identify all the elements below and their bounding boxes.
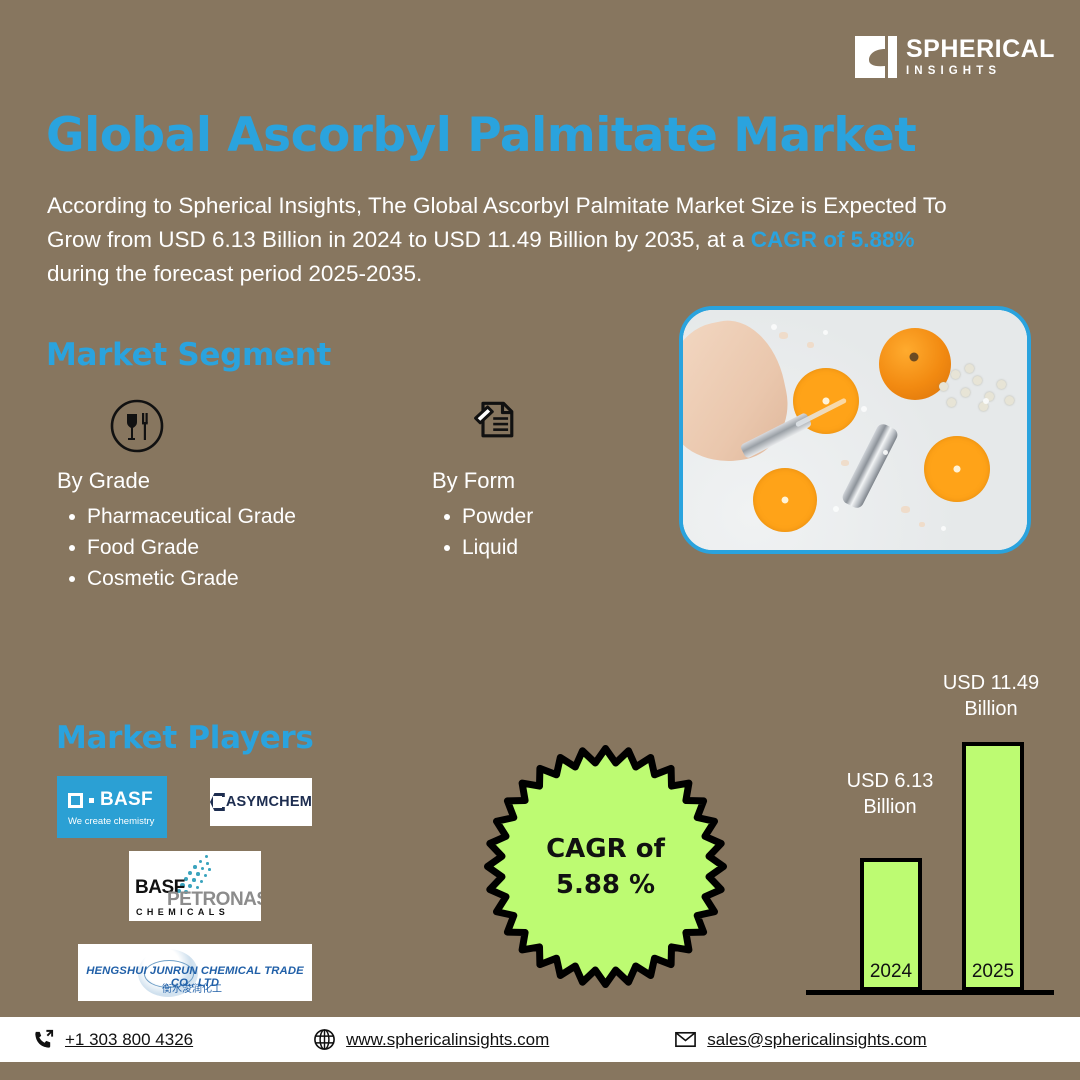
bar-2025: 2025	[962, 742, 1024, 991]
product-photo-frame	[679, 306, 1031, 554]
segment-item: Liquid	[432, 532, 533, 563]
market-segment-heading: Market Segment	[46, 337, 331, 373]
sugar-fleck	[771, 324, 777, 330]
segment-list-by-form: Powder Liquid	[432, 501, 533, 563]
page-title: Global Ascorbyl Palmitate Market	[46, 108, 916, 163]
cagr-text: CAGR of 5.88 %	[483, 744, 728, 989]
basf-tagline: We create chemistry	[68, 816, 167, 827]
bar-value-label-2025: USD 11.49 Billion	[931, 670, 1051, 722]
brand-logo: SPHERICAL INSIGHTS	[855, 36, 1055, 78]
phone-outgoing-icon	[32, 1028, 55, 1051]
document-form-icon	[470, 394, 533, 450]
envelope-icon	[674, 1028, 697, 1051]
basf-dot-icon	[89, 798, 94, 803]
infographic-page: SPHERICAL INSIGHTS Global Ascorbyl Palmi…	[0, 0, 1080, 1080]
player-logo-basf-petronas: BASF PETRONAS CHEMICALS	[129, 851, 261, 921]
bar-value-label-2024: USD 6.13 Billion	[830, 768, 950, 820]
logo-wordmark-bottom: INSIGHTS	[906, 66, 1055, 78]
orange-slices-with-serum-dropper-photo	[683, 310, 1027, 550]
segment-group-by-form: By Form Powder Liquid	[432, 394, 533, 563]
globe-icon	[313, 1028, 336, 1051]
segment-item: Cosmetic Grade	[57, 563, 296, 594]
segment-item: Powder	[432, 501, 533, 532]
market-players-heading: Market Players	[56, 720, 314, 756]
salt-crumb	[919, 522, 925, 527]
salt-crumb	[779, 332, 788, 339]
chart-baseline-axis	[806, 990, 1054, 995]
segment-group-by-grade: By Grade Pharmaceutical Grade Food Grade…	[57, 398, 296, 594]
food-grade-icon	[109, 398, 296, 454]
orange-slice	[753, 468, 817, 532]
footer-bar: +1 303 800 4326 www.sphericalinsights.co…	[0, 1017, 1080, 1062]
bar-category-2024: 2024	[870, 961, 912, 983]
bar-2024: 2024	[860, 858, 922, 991]
segment-item: Pharmaceutical Grade	[57, 501, 296, 532]
sugar-fleck	[833, 506, 839, 512]
serum-tube	[840, 422, 900, 510]
bar-value-line1: USD 6.13	[830, 768, 950, 794]
player-logo-asymchem: ASYMCHEM	[210, 778, 312, 826]
asymchem-wordmark: ASYMCHEM	[226, 794, 312, 810]
basf-petronas-line3: CHEMICALS	[136, 907, 229, 917]
footer-phone[interactable]: +1 303 800 4326	[32, 1028, 193, 1051]
footer-phone-text[interactable]: +1 303 800 4326	[65, 1030, 193, 1050]
segment-list-by-grade: Pharmaceutical Grade Food Grade Cosmetic…	[57, 501, 296, 594]
cagr-badge: CAGR of 5.88 %	[483, 744, 728, 989]
footer-email[interactable]: sales@sphericalinsights.com	[674, 1028, 926, 1051]
market-description: According to Spherical Insights, The Glo…	[47, 189, 957, 291]
spherical-insights-mark-icon	[855, 36, 897, 78]
footer-email-text[interactable]: sales@sphericalinsights.com	[707, 1030, 926, 1050]
dried-flowers	[935, 362, 1021, 416]
cagr-line-2: 5.88 %	[556, 867, 655, 903]
salt-crumb	[841, 460, 849, 466]
segment-item: Food Grade	[57, 532, 296, 563]
bar-value-line2: Billion	[931, 696, 1051, 722]
footer-website[interactable]: www.sphericalinsights.com	[313, 1028, 549, 1051]
sugar-fleck	[983, 398, 989, 404]
description-text-part2: during the forecast period 2025-2035.	[47, 261, 422, 286]
basf-wordmark: BASF	[100, 789, 153, 811]
orange-slice	[924, 436, 990, 502]
cagr-line-1: CAGR of	[546, 831, 665, 867]
salt-crumb	[901, 506, 910, 513]
segment-title-by-grade: By Grade	[57, 468, 296, 494]
market-size-bar-chart: USD 6.13 Billion USD 11.49 Billion 2024 …	[806, 662, 1056, 1002]
sugar-fleck	[883, 450, 888, 455]
bar-value-line2: Billion	[830, 794, 950, 820]
segment-title-by-form: By Form	[432, 468, 533, 494]
sugar-fleck	[941, 526, 946, 531]
salt-crumb	[807, 342, 814, 348]
sugar-fleck	[823, 330, 828, 335]
player-logo-hengshui-junrun: HENGSHUI JUNRUN CHEMICAL TRADE CO., LTD …	[78, 944, 312, 1001]
bar-value-line1: USD 11.49	[931, 670, 1051, 696]
bar-category-2025: 2025	[972, 961, 1014, 983]
logo-wordmark-top: SPHERICAL	[906, 37, 1055, 62]
player-logo-basf: BASF We create chemistry	[57, 776, 167, 838]
hengshui-chinese-name: 衡水浚润化工	[78, 980, 306, 995]
sugar-fleck	[861, 406, 867, 412]
footer-website-text[interactable]: www.sphericalinsights.com	[346, 1030, 549, 1050]
description-cagr-highlight: CAGR of 5.88%	[751, 227, 915, 252]
basf-square-icon	[68, 793, 83, 808]
asymchem-hex-c-icon	[210, 793, 225, 811]
